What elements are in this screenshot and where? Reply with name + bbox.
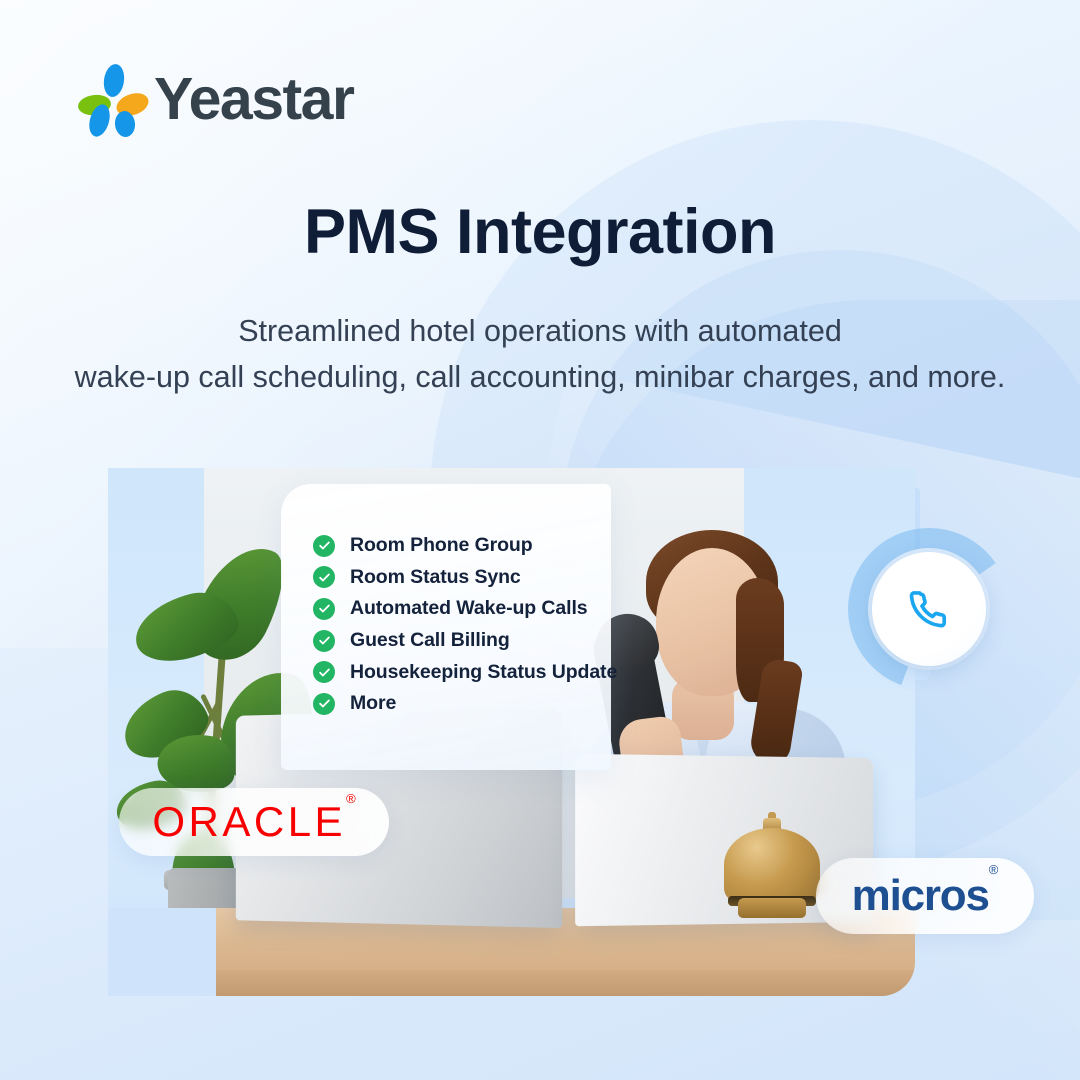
poster-canvas: Yeastar PMS Integration Streamlined hote… [0,0,1080,1080]
oracle-trademark: ® [346,791,356,806]
check-circle-icon [313,598,335,620]
oracle-wordmark: ORACLE® [152,801,355,843]
list-item: Room Status Sync [313,562,733,594]
list-item: Room Phone Group [313,530,733,562]
feature-label: Room Status Sync [350,566,521,589]
feature-label: Automated Wake-up Calls [350,597,588,620]
feature-label: Housekeeping Status Update [350,661,617,684]
brand-logo[interactable]: Yeastar [78,64,353,134]
check-circle-icon [313,566,335,588]
list-item: Guest Call Billing [313,625,733,657]
reception-bell [720,810,824,918]
micros-wordmark: micros® [852,874,999,918]
check-circle-icon [313,693,335,715]
subtitle-line-2: wake-up call scheduling, call accounting… [0,354,1080,400]
list-item: Housekeeping Status Update [313,656,733,688]
feature-list: Room Phone Group Room Status Sync Automa… [313,530,733,720]
yeastar-pinwheel-icon [78,64,140,134]
micros-name: micros [852,871,989,920]
check-circle-icon [313,661,335,683]
partner-badge-oracle: ORACLE® [119,788,389,856]
page-subtitle: Streamlined hotel operations with automa… [0,308,1080,401]
partner-badge-micros: micros® [816,858,1034,934]
list-item: More [313,688,733,720]
check-circle-icon [313,630,335,652]
oracle-name: ORACLE [152,798,346,845]
feature-label: Room Phone Group [350,534,533,557]
check-circle-icon [313,535,335,557]
feature-label: Guest Call Billing [350,629,510,652]
feature-label: More [350,692,396,715]
subtitle-line-1: Streamlined hotel operations with automa… [0,308,1080,354]
page-title: PMS Integration [0,196,1080,268]
micros-trademark: ® [989,862,999,877]
list-item: Automated Wake-up Calls [313,593,733,625]
phone-handset-icon[interactable] [872,552,986,666]
brand-wordmark: Yeastar [154,70,353,129]
